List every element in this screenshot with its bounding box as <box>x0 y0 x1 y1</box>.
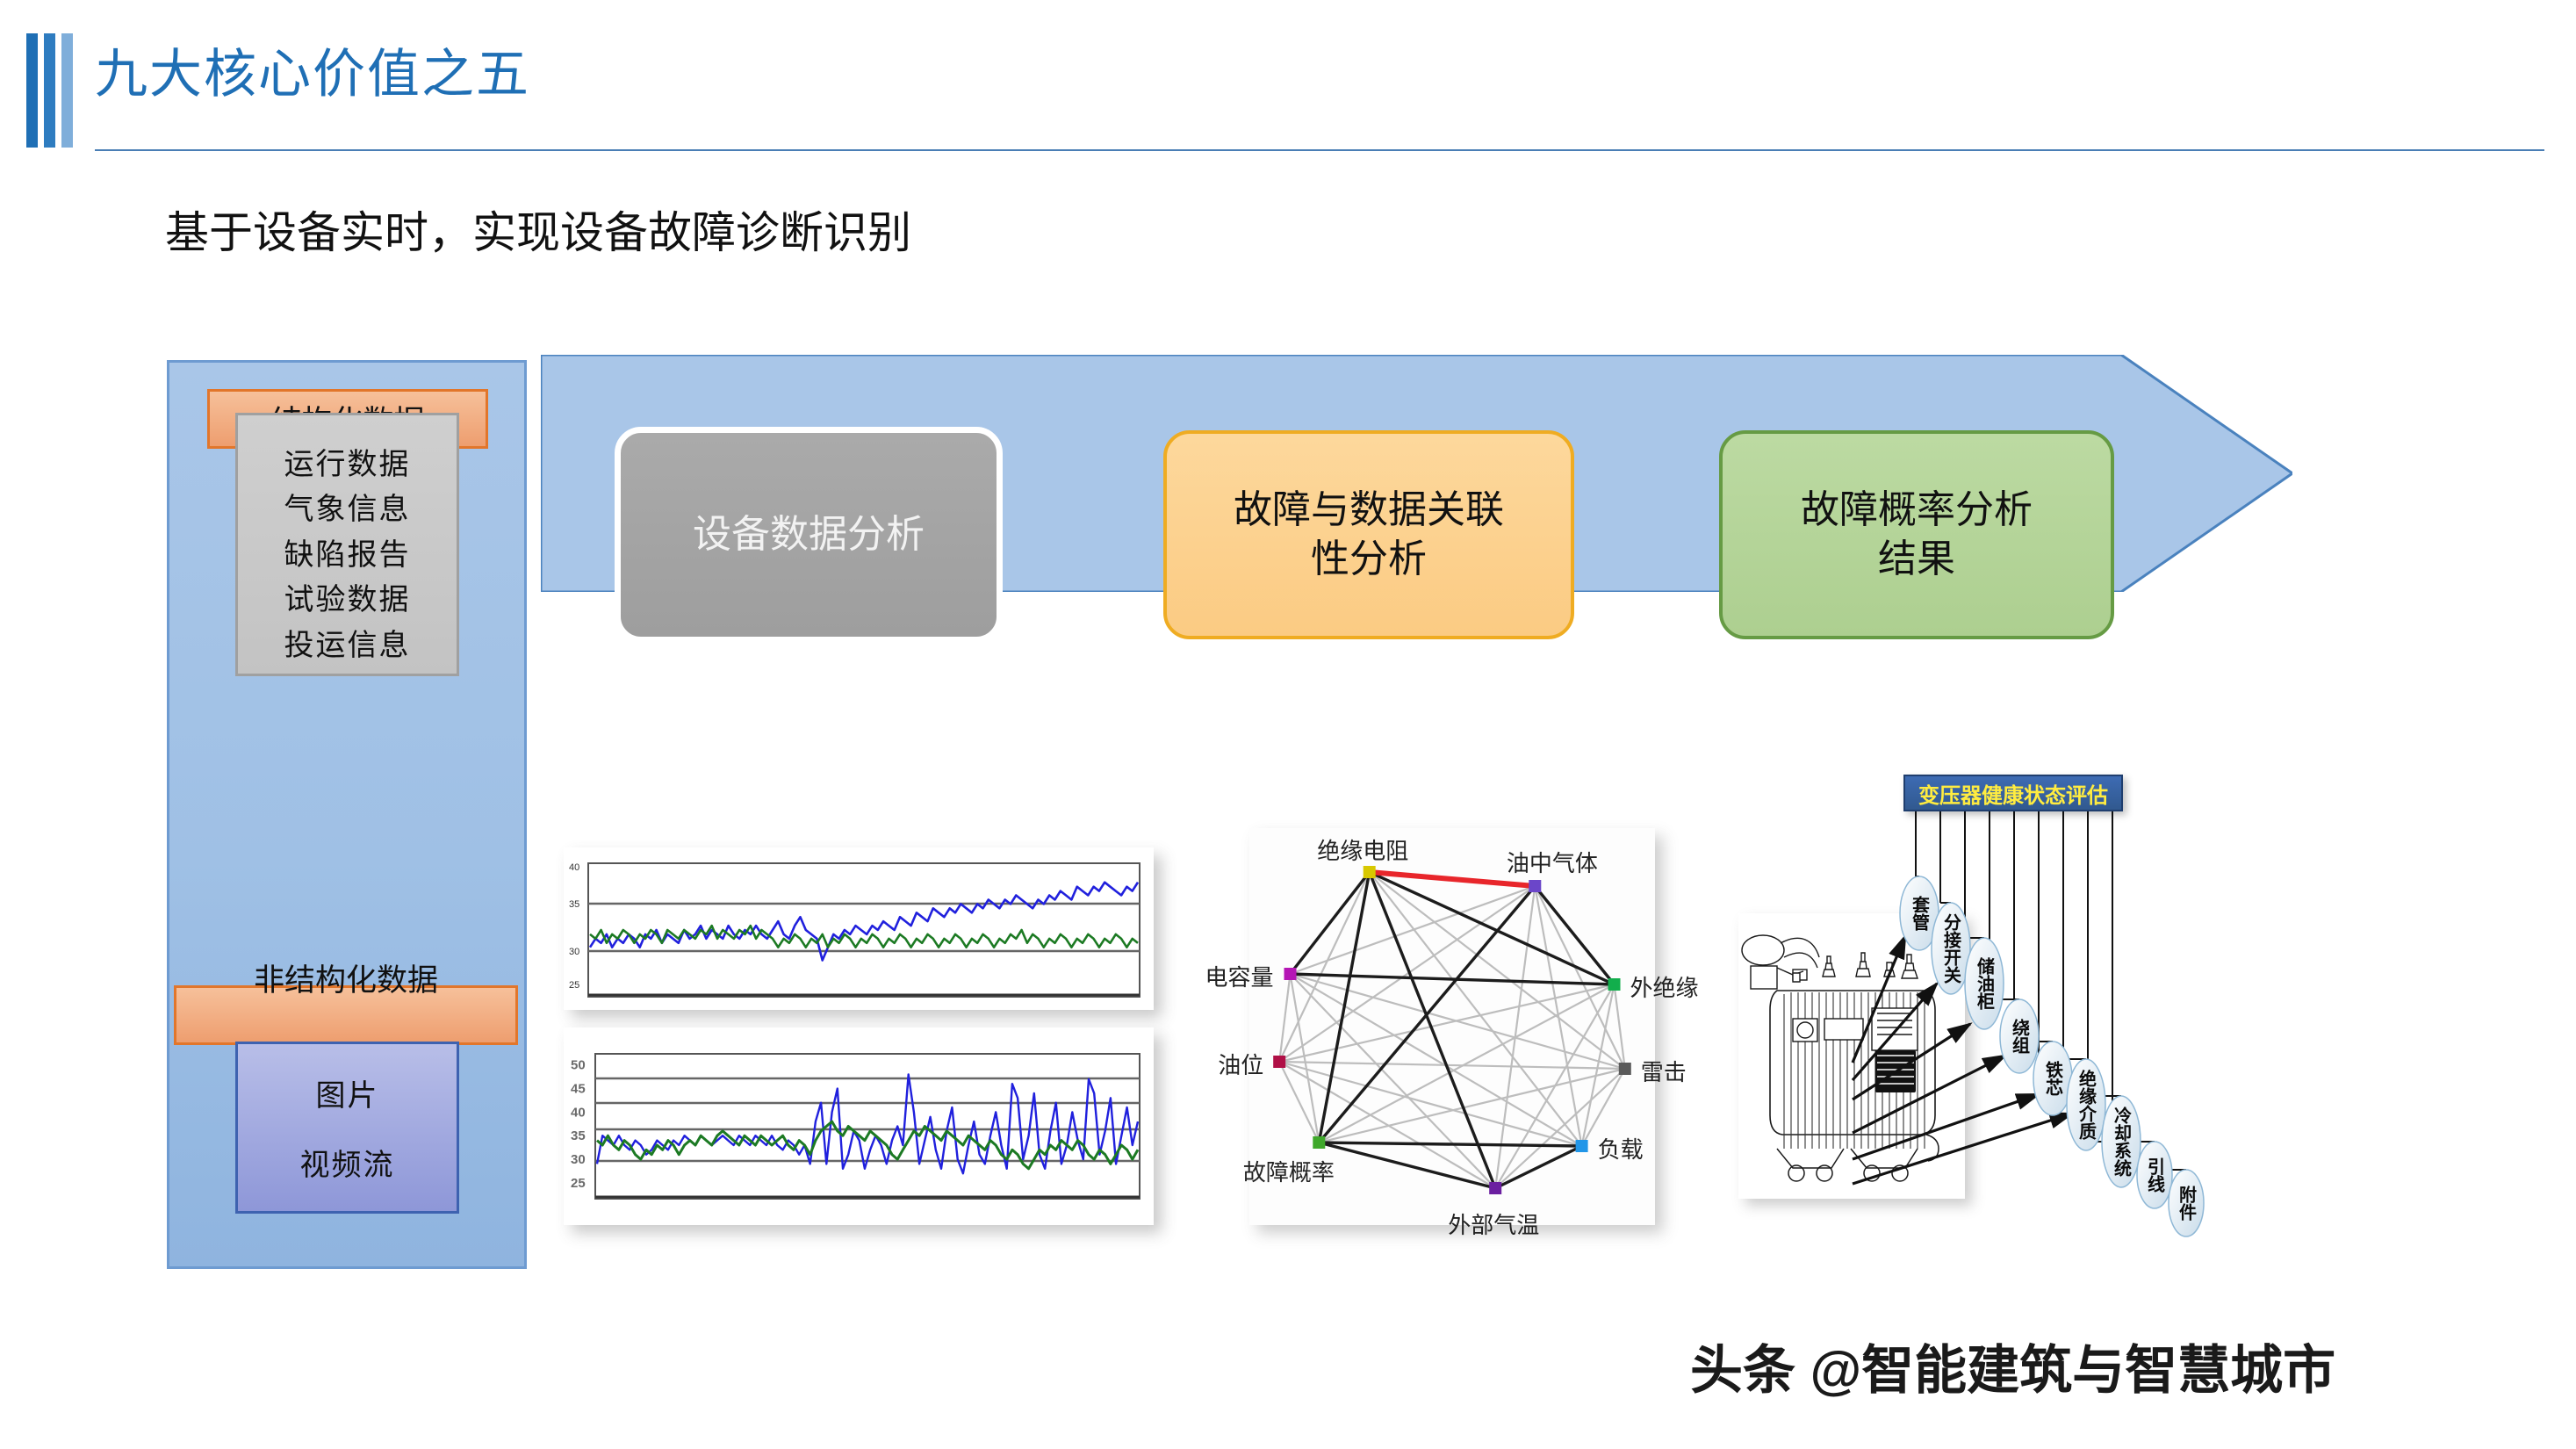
y-axis-tick: 50 <box>571 1058 586 1073</box>
svg-text:25: 25 <box>569 980 579 991</box>
health-component-label: 绕组 <box>2009 1017 2030 1056</box>
svg-text:30: 30 <box>569 947 579 957</box>
network-node[interactable] <box>1576 1140 1588 1152</box>
network-node-label: 油中气体 <box>1507 846 1598 878</box>
network-node[interactable] <box>1313 1136 1325 1149</box>
network-node-label: 电容量 <box>1205 960 1274 992</box>
timeseries-chart-top: 4035 3025 <box>564 847 1154 1010</box>
title-bar-3 <box>61 33 73 148</box>
network-node-label: 外绝缘 <box>1630 970 1699 1003</box>
unstructured-data-header: 非结构化数据 <box>174 955 518 1000</box>
y-axis-tick: 40 <box>571 1105 586 1120</box>
network-node[interactable] <box>1619 1063 1631 1075</box>
pipeline-step-3[interactable]: 故障概率分析 结果 <box>1719 430 2114 639</box>
network-node[interactable] <box>1364 866 1376 878</box>
title-divider <box>95 149 2544 151</box>
list-item: 气象信息 <box>284 492 411 528</box>
network-node-label: 绝缘电阻 <box>1317 833 1408 866</box>
timeseries-chart-bottom: 504540353025 <box>564 1027 1154 1225</box>
transformer-health-diagram: 变压器健康状态评估 <box>1721 773 2414 1238</box>
page-title: 九大核心价值之五 <box>95 32 530 108</box>
network-node-label: 故障概率 <box>1243 1155 1335 1187</box>
list-item: 试验数据 <box>284 582 411 618</box>
list-item: 图片 <box>316 1071 379 1114</box>
health-component-label: 附件 <box>2176 1184 2197 1222</box>
pipeline-step-1[interactable]: 设备数据分析 <box>615 427 1003 643</box>
pipeline-step-2[interactable]: 故障与数据关联 性分析 <box>1163 430 1574 639</box>
health-diagram-title: 变压器健康状态评估 <box>1903 775 2123 811</box>
list-item: 投运信息 <box>284 628 411 664</box>
y-axis-tick: 30 <box>571 1152 586 1167</box>
network-node[interactable] <box>1273 1056 1285 1068</box>
health-component-label: 套管 <box>1909 894 1930 933</box>
health-component-label: 铁芯 <box>2042 1059 2063 1098</box>
unstructured-data-list: 图片 视频流 <box>235 1042 459 1214</box>
list-item: 视频流 <box>300 1141 395 1184</box>
health-component-label: 储油柜 <box>1974 955 1995 1013</box>
slide-root: 九大核心价值之五 基于设备实时，实现设备故障诊断识别 结构化数据 运行数据 气象… <box>0 0 2576 1449</box>
health-pointer-arrow <box>1853 1094 2039 1159</box>
health-component-label: 引线 <box>2144 1156 2165 1194</box>
network-node-label: 雷击 <box>1641 1055 1687 1087</box>
network-node[interactable] <box>1608 978 1621 991</box>
network-node[interactable] <box>1489 1182 1501 1194</box>
y-axis-tick: 35 <box>571 1128 586 1143</box>
health-component-label: 绝缘介质 <box>2076 1066 2097 1143</box>
health-component-label: 分接开关 <box>1940 910 1961 987</box>
network-node[interactable] <box>1529 880 1541 892</box>
list-item: 运行数据 <box>284 447 411 483</box>
network-node-label: 负载 <box>1598 1132 1644 1164</box>
network-node-label: 外部气温 <box>1448 1207 1539 1240</box>
svg-text:35: 35 <box>569 899 579 910</box>
svg-text:40: 40 <box>569 862 579 873</box>
health-component-label: 冷却系统 <box>2111 1103 2132 1180</box>
structured-data-list: 运行数据 气象信息 缺陷报告 试验数据 投运信息 <box>235 413 459 676</box>
list-item: 缺陷报告 <box>284 537 411 573</box>
title-decor-bars <box>26 33 73 148</box>
y-axis-tick: 45 <box>571 1082 586 1097</box>
title-bar-1 <box>26 33 38 148</box>
network-node-label: 油位 <box>1218 1048 1263 1080</box>
health-pointer-arrow <box>1853 936 1905 1063</box>
watermark: 头条 @智能建筑与智慧城市 <box>1690 1328 2335 1404</box>
health-pointer-arrow <box>1853 1056 2005 1133</box>
y-axis-tick: 25 <box>571 1176 586 1191</box>
network-node[interactable] <box>1284 968 1297 980</box>
page-subtitle: 基于设备实时，实现设备故障诊断识别 <box>165 198 911 261</box>
title-bar-2 <box>44 33 55 148</box>
